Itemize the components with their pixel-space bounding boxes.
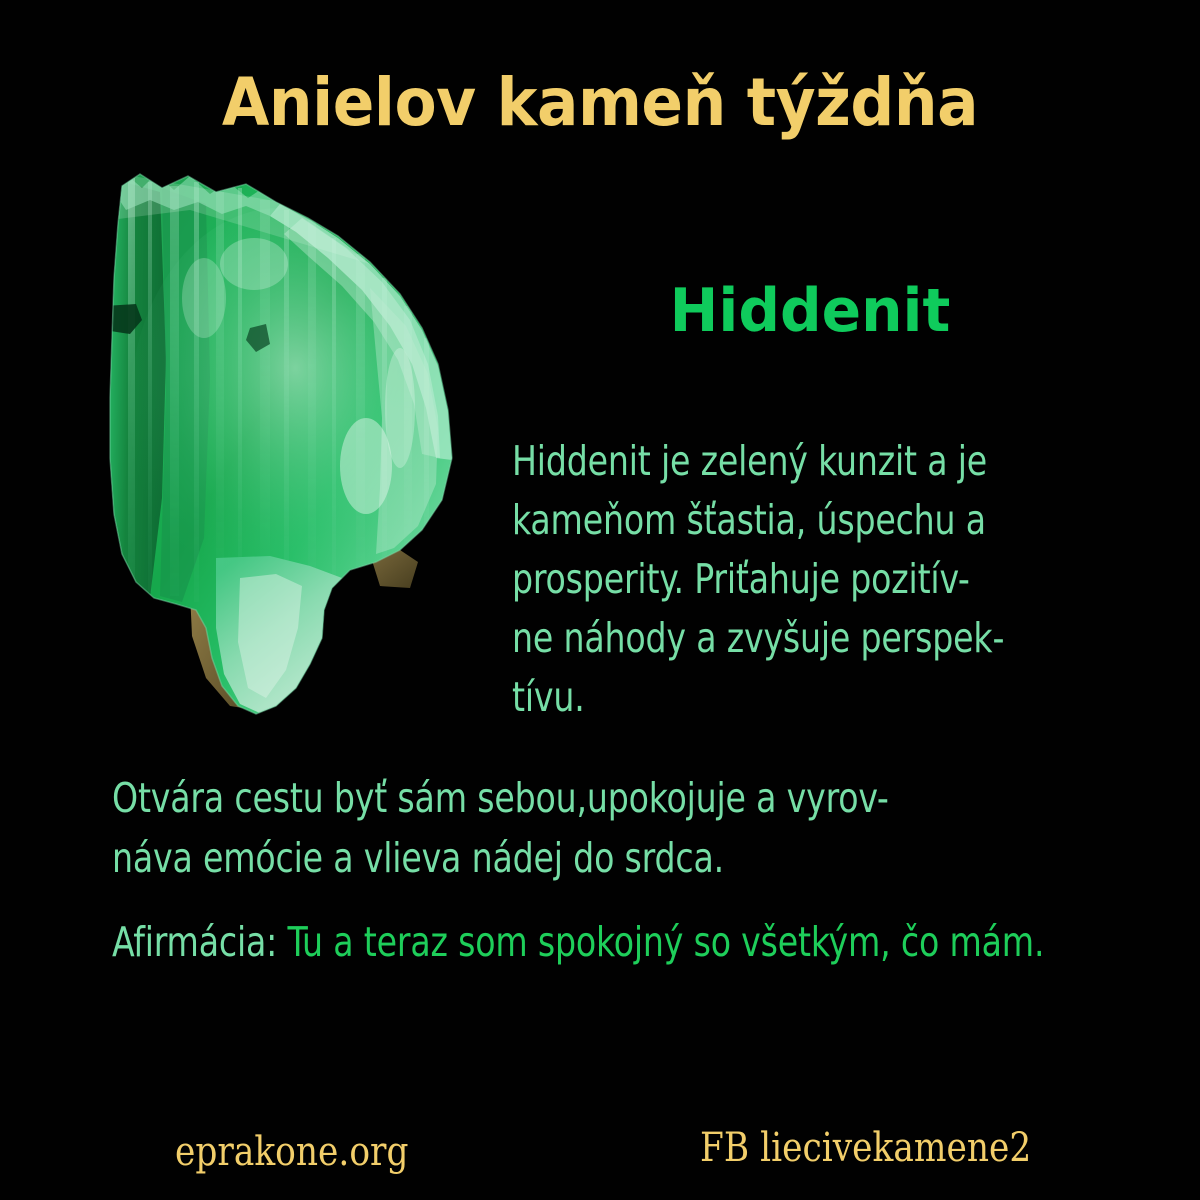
affirmation-block: Afirmácia: Tu a teraz som spokojný so vš…	[112, 912, 1048, 972]
crystal-detail-group	[104, 172, 452, 714]
stone-body-text: Otvára cestu byť sám sebou,upokojuje a v…	[112, 768, 1048, 888]
footer-facebook[interactable]: FB liecivekamene2	[700, 1126, 1031, 1170]
crystal-illustration	[70, 158, 490, 758]
page-title: Anielov kameň týždňa	[42, 68, 1158, 137]
hiddenite-crystal-image	[70, 158, 490, 758]
affirmation-label: Afirmácia:	[112, 918, 288, 966]
poster-canvas: Anielov kameň týždňa	[0, 0, 1200, 1200]
affirmation-value: Tu a teraz som spokojný so všetkým, čo m…	[288, 918, 1045, 966]
stone-name-heading: Hiddenit	[519, 278, 1101, 344]
footer-website[interactable]: eprakone.org	[175, 1130, 409, 1174]
stone-intro-text: Hiddenit je zelený kunzit a je kameňom š…	[512, 432, 1052, 727]
